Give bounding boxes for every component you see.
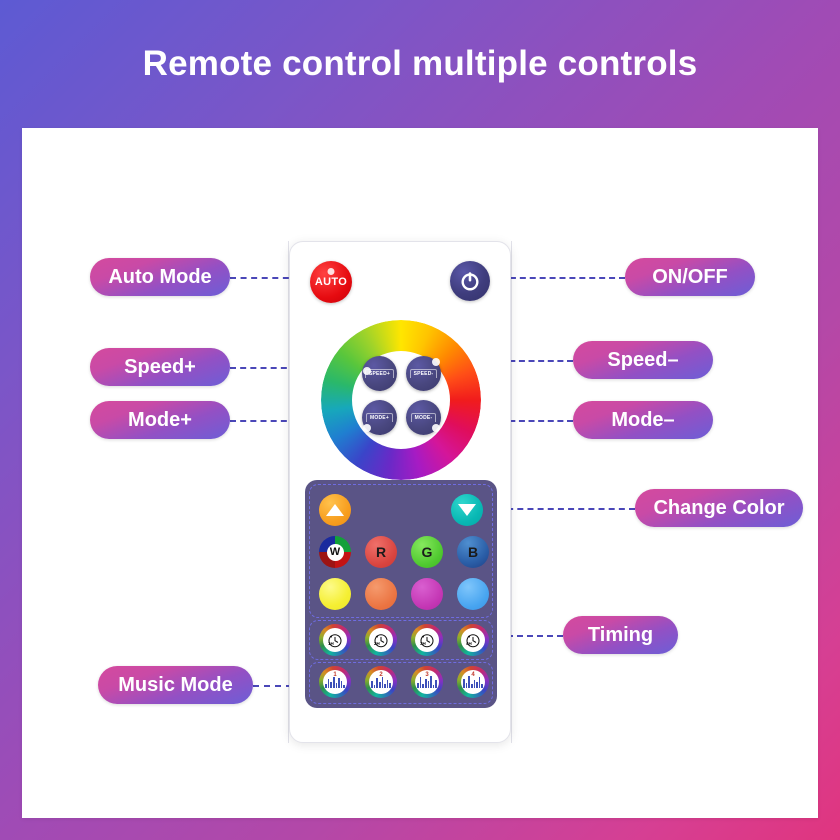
mode-minus-label: MODE- [411,413,437,422]
red-color-label: R [376,544,386,560]
speed-minus-label: SPEED- [410,369,438,378]
label-speed-plus[interactable]: Speed+ [90,348,230,386]
page-title: Remote control multiple controls [0,44,840,84]
power-button[interactable] [450,261,490,301]
music-mode-3-label: 3 [425,672,428,678]
brightness-up-button[interactable] [319,494,351,526]
equalizer-icon: 3 [415,670,439,694]
led-dot-icon [432,358,440,366]
mode-minus-button[interactable]: MODE- [406,400,441,435]
blue-color-label: B [468,544,478,560]
guide-line-right [511,241,512,743]
label-mode-plus[interactable]: Mode+ [90,401,230,439]
equalizer-icon: 1 [323,670,347,694]
timer-4h-button[interactable]: 4H [457,624,489,656]
led-dot-icon [363,424,371,432]
music-mode-2-button[interactable]: 2 [365,666,397,698]
brightness-down-button[interactable] [451,494,483,526]
speed-plus-button[interactable]: SPEED+ [362,356,397,391]
led-dot-icon [363,367,371,375]
music-mode-1-label: 1 [333,672,336,678]
magenta-color-button[interactable] [411,578,443,610]
timer-2h-label: 2H [374,641,380,646]
equalizer-icon: 4 [461,670,485,694]
connector-change-color [497,508,635,510]
clock-icon: 2H [369,628,393,652]
auto-button-label: AUTO [315,276,347,288]
orange-color-button[interactable] [365,578,397,610]
timer-2h-button[interactable]: 2H [365,624,397,656]
timer-1h-button[interactable]: 1H [319,624,351,656]
yellow-color-button[interactable] [319,578,351,610]
label-on-off[interactable]: ON/OFF [625,258,755,296]
green-color-button[interactable]: G [411,536,443,568]
mode-plus-label: MODE+ [366,413,393,422]
power-icon [459,270,481,292]
music-mode-2-label: 2 [379,672,382,678]
label-auto-mode[interactable]: Auto Mode [90,258,230,296]
label-speed-minus[interactable]: Speed– [573,341,713,379]
green-color-label: G [422,544,433,560]
red-color-button[interactable]: R [365,536,397,568]
led-dot-icon [432,424,440,432]
gloss-highlight [328,268,335,275]
clock-icon: 3H [415,628,439,652]
timer-1h-label: 1H [328,641,334,646]
music-mode-4-label: 4 [471,672,474,678]
connector-on-off [500,277,625,279]
clock-icon: 1H [323,628,347,652]
remote-control-body: AUTO SPEED+ SPEED- MODE+ MODE- [289,241,511,743]
label-mode-minus[interactable]: Mode– [573,401,713,439]
music-mode-3-button[interactable]: 3 [411,666,443,698]
label-change-color[interactable]: Change Color [635,489,803,527]
lightblue-color-button[interactable] [457,578,489,610]
white-color-label: W [327,544,344,561]
equalizer-icon: 2 [369,670,393,694]
label-music-mode[interactable]: Music Mode [98,666,253,704]
timer-4h-label: 4H [466,641,472,646]
label-timing[interactable]: Timing [563,616,678,654]
music-mode-4-button[interactable]: 4 [457,666,489,698]
button-panel: W R G B 1H [305,480,497,708]
brightness-up-icon [326,504,344,516]
mode-plus-button[interactable]: MODE+ [362,400,397,435]
auto-button[interactable]: AUTO [310,261,352,303]
clock-icon: 4H [461,628,485,652]
timer-3h-label: 3H [420,641,426,646]
speed-minus-button[interactable]: SPEED- [406,356,441,391]
music-mode-1-button[interactable]: 1 [319,666,351,698]
white-color-button[interactable]: W [319,536,351,568]
timer-3h-button[interactable]: 3H [411,624,443,656]
blue-color-button[interactable]: B [457,536,489,568]
brightness-down-icon [458,504,476,516]
